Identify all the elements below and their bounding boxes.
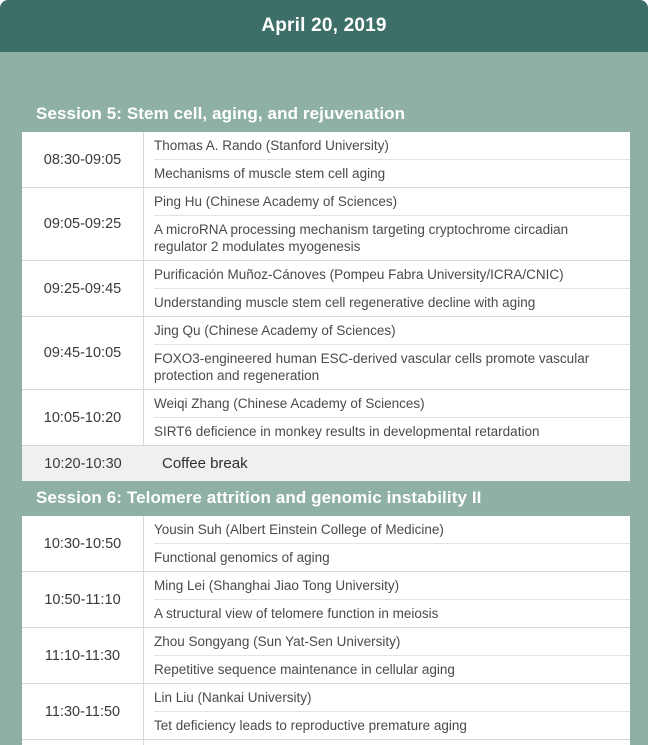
schedule-slot: 09:45-10:05Jing Qu (Chinese Academy of S…: [22, 316, 630, 389]
slot-speaker: Ming Lei (Shanghai Jiao Tong University): [154, 572, 630, 600]
slot-content: Ping Hu (Chinese Academy of Sciences)A m…: [144, 188, 630, 260]
slot-time: 10:30-10:50: [22, 516, 144, 571]
slot-talk-title: A structural view of telomere function i…: [154, 600, 630, 627]
slot-time: 09:25-09:45: [22, 261, 144, 316]
slot-talk-title: A microRNA processing mechanism targetin…: [154, 216, 630, 260]
date-banner: April 20, 2019: [0, 0, 648, 52]
slot-speaker: Yousin Suh (Albert Einstein College of M…: [154, 516, 630, 544]
slot-speaker: Ping Hu (Chinese Academy of Sciences): [154, 188, 630, 216]
slot-time: 11:30-11:50: [22, 684, 144, 739]
break-label: Coffee break: [144, 455, 630, 472]
slot-content: Lin Liu (Nankai University)Tet deficienc…: [144, 684, 630, 739]
schedule-frame: Session 5: Stem cell, aging, and rejuven…: [0, 52, 648, 745]
slot-talk-title: Understanding muscle stem cell regenerat…: [154, 289, 630, 316]
sessions-container: Session 5: Stem cell, aging, and rejuven…: [22, 97, 630, 745]
slot-content: Zhiyong Mao (Tongji University)SIRT6 imp…: [144, 740, 630, 745]
slot-talk-title: Tet deficiency leads to reproductive pre…: [154, 712, 630, 739]
slot-time: 10:50-11:10: [22, 572, 144, 627]
schedule-slot: 11:30-11:50Lin Liu (Nankai University)Te…: [22, 683, 630, 739]
date-banner-text: April 20, 2019: [261, 15, 386, 37]
slot-speaker: Jing Qu (Chinese Academy of Sciences): [154, 317, 630, 345]
slot-content: Thomas A. Rando (Stanford University)Mec…: [144, 132, 630, 187]
slot-time: 09:05-09:25: [22, 188, 144, 260]
slot-speaker: Zhiyong Mao (Tongji University): [154, 740, 630, 745]
slot-talk-title: FOXO3-engineered human ESC-derived vascu…: [154, 345, 630, 389]
schedule-slot: 10:30-10:50Yousin Suh (Albert Einstein C…: [22, 516, 630, 571]
slot-speaker: Lin Liu (Nankai University): [154, 684, 630, 712]
break-row: 10:20-10:30Coffee break: [22, 445, 630, 481]
schedule-slot: 11:10-11:30Zhou Songyang (Sun Yat-Sen Un…: [22, 627, 630, 683]
slot-talk-title: Functional genomics of aging: [154, 544, 630, 571]
schedule-slot: 11:50-12:10Zhiyong Mao (Tongji Universit…: [22, 739, 630, 745]
slot-content: Zhou Songyang (Sun Yat-Sen University)Re…: [144, 628, 630, 683]
schedule-slot: 10:05-10:20Weiqi Zhang (Chinese Academy …: [22, 389, 630, 445]
slot-time: 11:10-11:30: [22, 628, 144, 683]
slot-speaker: Thomas A. Rando (Stanford University): [154, 132, 630, 160]
schedule-page: April 20, 2019 Session 5: Stem cell, agi…: [0, 0, 648, 745]
slot-speaker: Zhou Songyang (Sun Yat-Sen University): [154, 628, 630, 656]
slot-content: Jing Qu (Chinese Academy of Sciences)FOX…: [144, 317, 630, 389]
slot-speaker: Purificación Muñoz-Cánoves (Pompeu Fabra…: [154, 261, 630, 289]
schedule-slot: 10:50-11:10Ming Lei (Shanghai Jiao Tong …: [22, 571, 630, 627]
slot-content: Yousin Suh (Albert Einstein College of M…: [144, 516, 630, 571]
session-header-bar: Session 5: Stem cell, aging, and rejuven…: [0, 97, 648, 132]
slot-talk-title: Mechanisms of muscle stem cell aging: [154, 160, 630, 187]
session-title: Session 5: Stem cell, aging, and rejuven…: [36, 104, 405, 123]
slot-content: Weiqi Zhang (Chinese Academy of Sciences…: [144, 390, 630, 445]
schedule-slot: 08:30-09:05Thomas A. Rando (Stanford Uni…: [22, 132, 630, 187]
frame-top-spacer: [22, 52, 630, 97]
slot-time: 11:50-12:10: [22, 740, 144, 745]
schedule-slot: 09:25-09:45Purificación Muñoz-Cánoves (P…: [22, 260, 630, 316]
break-time: 10:20-10:30: [22, 456, 144, 472]
slot-content: Purificación Muñoz-Cánoves (Pompeu Fabra…: [144, 261, 630, 316]
slot-content: Ming Lei (Shanghai Jiao Tong University)…: [144, 572, 630, 627]
session-header-bar: Session 6: Telomere attrition and genomi…: [0, 481, 648, 516]
slot-time: 10:05-10:20: [22, 390, 144, 445]
slot-talk-title: Repetitive sequence maintenance in cellu…: [154, 656, 630, 683]
slot-speaker: Weiqi Zhang (Chinese Academy of Sciences…: [154, 390, 630, 418]
schedule-slot: 09:05-09:25Ping Hu (Chinese Academy of S…: [22, 187, 630, 260]
session-panel: 10:30-10:50Yousin Suh (Albert Einstein C…: [22, 516, 630, 745]
slot-talk-title: SIRT6 deficience in monkey results in de…: [154, 418, 630, 445]
slot-time: 09:45-10:05: [22, 317, 144, 389]
session-title: Session 6: Telomere attrition and genomi…: [36, 488, 481, 507]
session-panel: 08:30-09:05Thomas A. Rando (Stanford Uni…: [22, 132, 630, 481]
slot-time: 08:30-09:05: [22, 132, 144, 187]
